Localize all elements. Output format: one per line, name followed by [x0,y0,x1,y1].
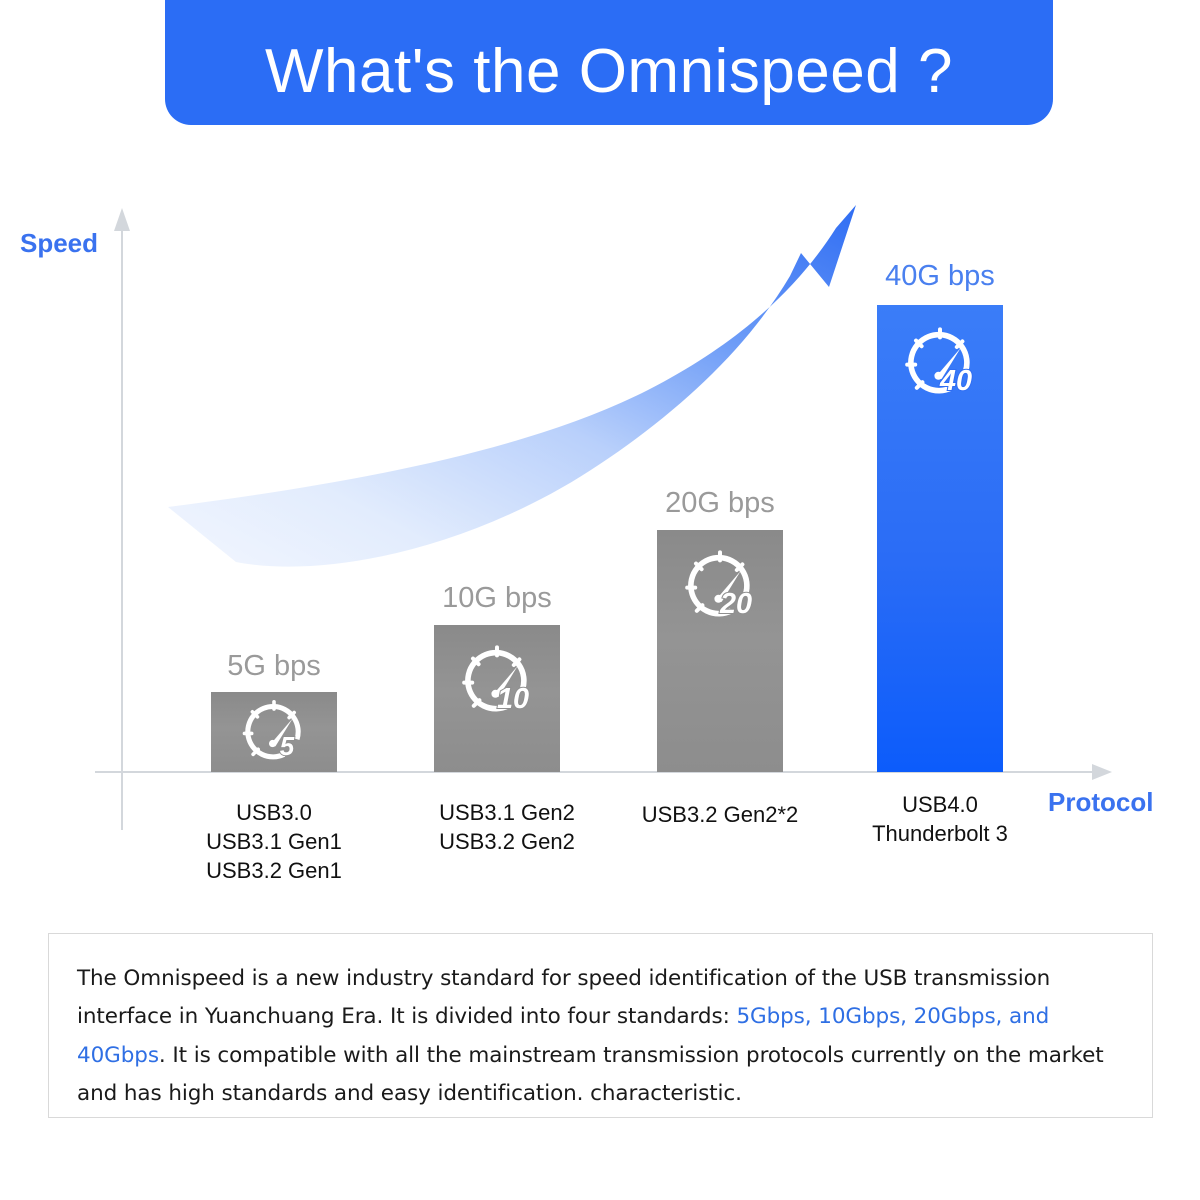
gauge-number-4: 40 [939,365,972,397]
gauge-number-3: 20 [719,588,752,620]
bar-value-label-4: 40G bps [877,260,1003,293]
description-part2: . It is compatible with all the mainstre… [77,1043,1104,1106]
category-line: USB4.0 [814,790,1066,819]
category-label-1: USB3.0 USB3.1 Gen1 USB3.2 Gen1 [148,798,400,885]
speedometer-icon-3: 20 [680,546,760,626]
category-label-3: USB3.2 Gen2*2 [594,800,846,829]
bar-2[interactable]: 10 [434,625,560,772]
speedometer-icon-2: 10 [457,641,537,721]
bar-value-label-3: 20G bps [657,487,783,520]
bar-3[interactable]: 20 [657,530,783,772]
speedometer-icon-1: 5 [238,696,310,768]
category-line: Thunderbolt 3 [814,819,1066,848]
gauge-number-1: 5 [280,733,295,761]
infographic-page: What's the Omnispeed ? [0,0,1200,1200]
category-line: USB3.2 Gen2*2 [594,800,846,829]
bar-value-label-2: 10G bps [434,582,560,615]
speedometer-icon-4: 40 [900,323,980,403]
gauge-number-2: 10 [497,683,529,715]
category-line: USB3.2 Gen2 [381,827,633,856]
category-line: USB3.0 [148,798,400,827]
category-line: USB3.1 Gen1 [148,827,400,856]
bar-1[interactable]: 5 [211,692,337,772]
bars-layer: 5G bps 5 [0,0,1200,772]
bar-chart: Speed Protocol 5G bps [0,0,1200,920]
category-line: USB3.2 Gen1 [148,856,400,885]
description-text: The Omnispeed is a new industry standard… [77,960,1122,1113]
bar-4[interactable]: 40 [877,305,1003,772]
category-label-4: USB4.0 Thunderbolt 3 [814,790,1066,848]
description-box: The Omnispeed is a new industry standard… [48,933,1153,1118]
bar-value-label-1: 5G bps [211,650,337,683]
